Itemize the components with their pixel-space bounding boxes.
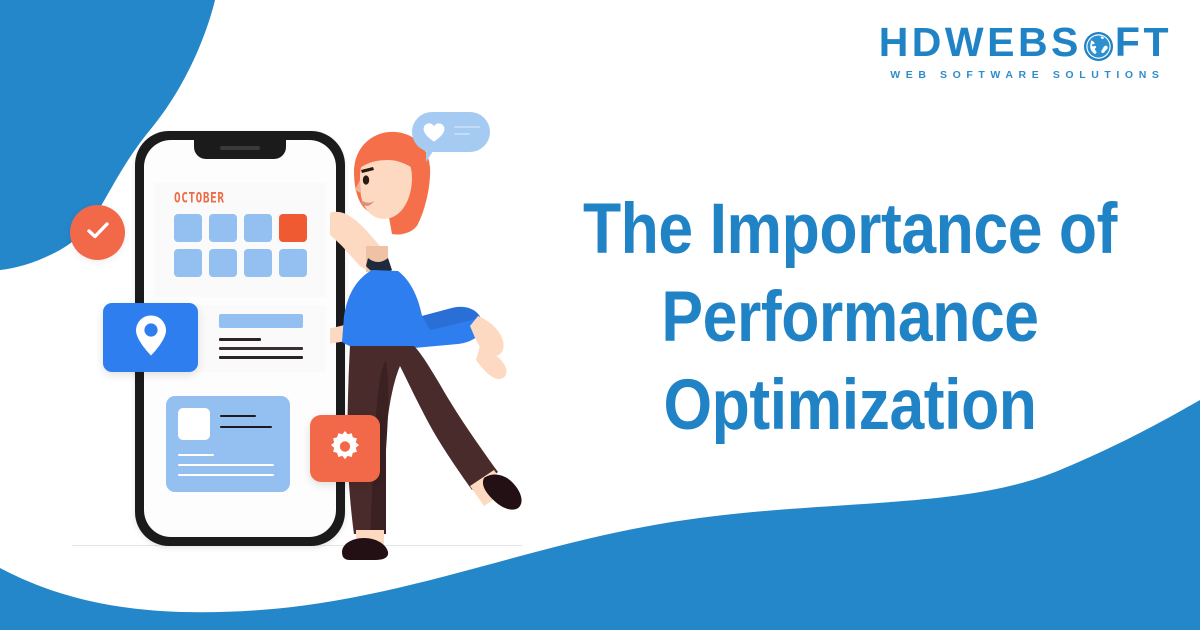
logo-wordmark: HDWEBS FT bbox=[879, 22, 1172, 63]
check-icon bbox=[84, 216, 112, 249]
title-line-3: Optimization bbox=[546, 362, 1153, 450]
site-logo[interactable]: HDWEBS FT WEB SOFTWARE SOLUTIONS bbox=[879, 22, 1172, 81]
woman-character bbox=[330, 120, 560, 560]
calendar-day-cell-selected[interactable] bbox=[279, 214, 307, 242]
calendar-day-cell[interactable] bbox=[209, 214, 237, 242]
title-line-2: Performance bbox=[546, 274, 1153, 362]
calendar-day-cell[interactable] bbox=[244, 249, 272, 277]
placeholder-line bbox=[178, 474, 274, 476]
phone-speaker bbox=[220, 146, 260, 150]
placeholder-bar bbox=[219, 314, 303, 328]
media-card bbox=[166, 396, 290, 492]
calendar-widget: OCTOBER bbox=[154, 183, 326, 297]
heart-icon bbox=[423, 123, 445, 147]
calendar-day-cell[interactable] bbox=[174, 214, 202, 242]
title-line-1: The Importance of bbox=[546, 186, 1153, 274]
calendar-month-label: OCTOBER bbox=[174, 190, 225, 206]
calendar-day-cell[interactable] bbox=[279, 249, 307, 277]
placeholder-line bbox=[219, 347, 303, 350]
logo-word-part1: HDWEBS bbox=[879, 22, 1082, 63]
placeholder-line bbox=[219, 356, 303, 359]
placeholder-line bbox=[454, 126, 480, 128]
speech-bubble bbox=[412, 112, 490, 152]
logo-tagline: WEB SOFTWARE SOLUTIONS bbox=[879, 70, 1172, 81]
speech-bubble-tail bbox=[426, 148, 442, 162]
settings-badge[interactable] bbox=[310, 415, 380, 482]
character-eye bbox=[363, 175, 369, 184]
logo-word-part2: FT bbox=[1115, 22, 1172, 63]
thumbnail-placeholder bbox=[178, 408, 210, 440]
phone-notch bbox=[194, 140, 286, 159]
map-pin-icon bbox=[135, 314, 167, 361]
calendar-day-cell[interactable] bbox=[209, 249, 237, 277]
page-title: The Importance of Performance Optimizati… bbox=[546, 186, 1153, 450]
placeholder-line bbox=[220, 415, 256, 417]
globe-icon bbox=[1083, 28, 1114, 59]
placeholder-line bbox=[178, 454, 214, 456]
check-badge[interactable] bbox=[70, 205, 125, 260]
placeholder-line bbox=[220, 426, 272, 428]
placeholder-line bbox=[178, 464, 274, 466]
hero-illustration: OCTOBER bbox=[0, 0, 560, 630]
blog-banner: HDWEBS FT WEB SOFTWARE SOLUTIONS The Imp… bbox=[0, 0, 1200, 630]
placeholder-line bbox=[219, 338, 261, 341]
gear-icon bbox=[329, 430, 361, 467]
calendar-grid bbox=[174, 214, 307, 277]
calendar-day-cell[interactable] bbox=[244, 214, 272, 242]
location-badge[interactable] bbox=[103, 303, 198, 372]
character-right-shoe bbox=[483, 475, 522, 510]
calendar-day-cell[interactable] bbox=[174, 249, 202, 277]
placeholder-line bbox=[454, 133, 470, 135]
